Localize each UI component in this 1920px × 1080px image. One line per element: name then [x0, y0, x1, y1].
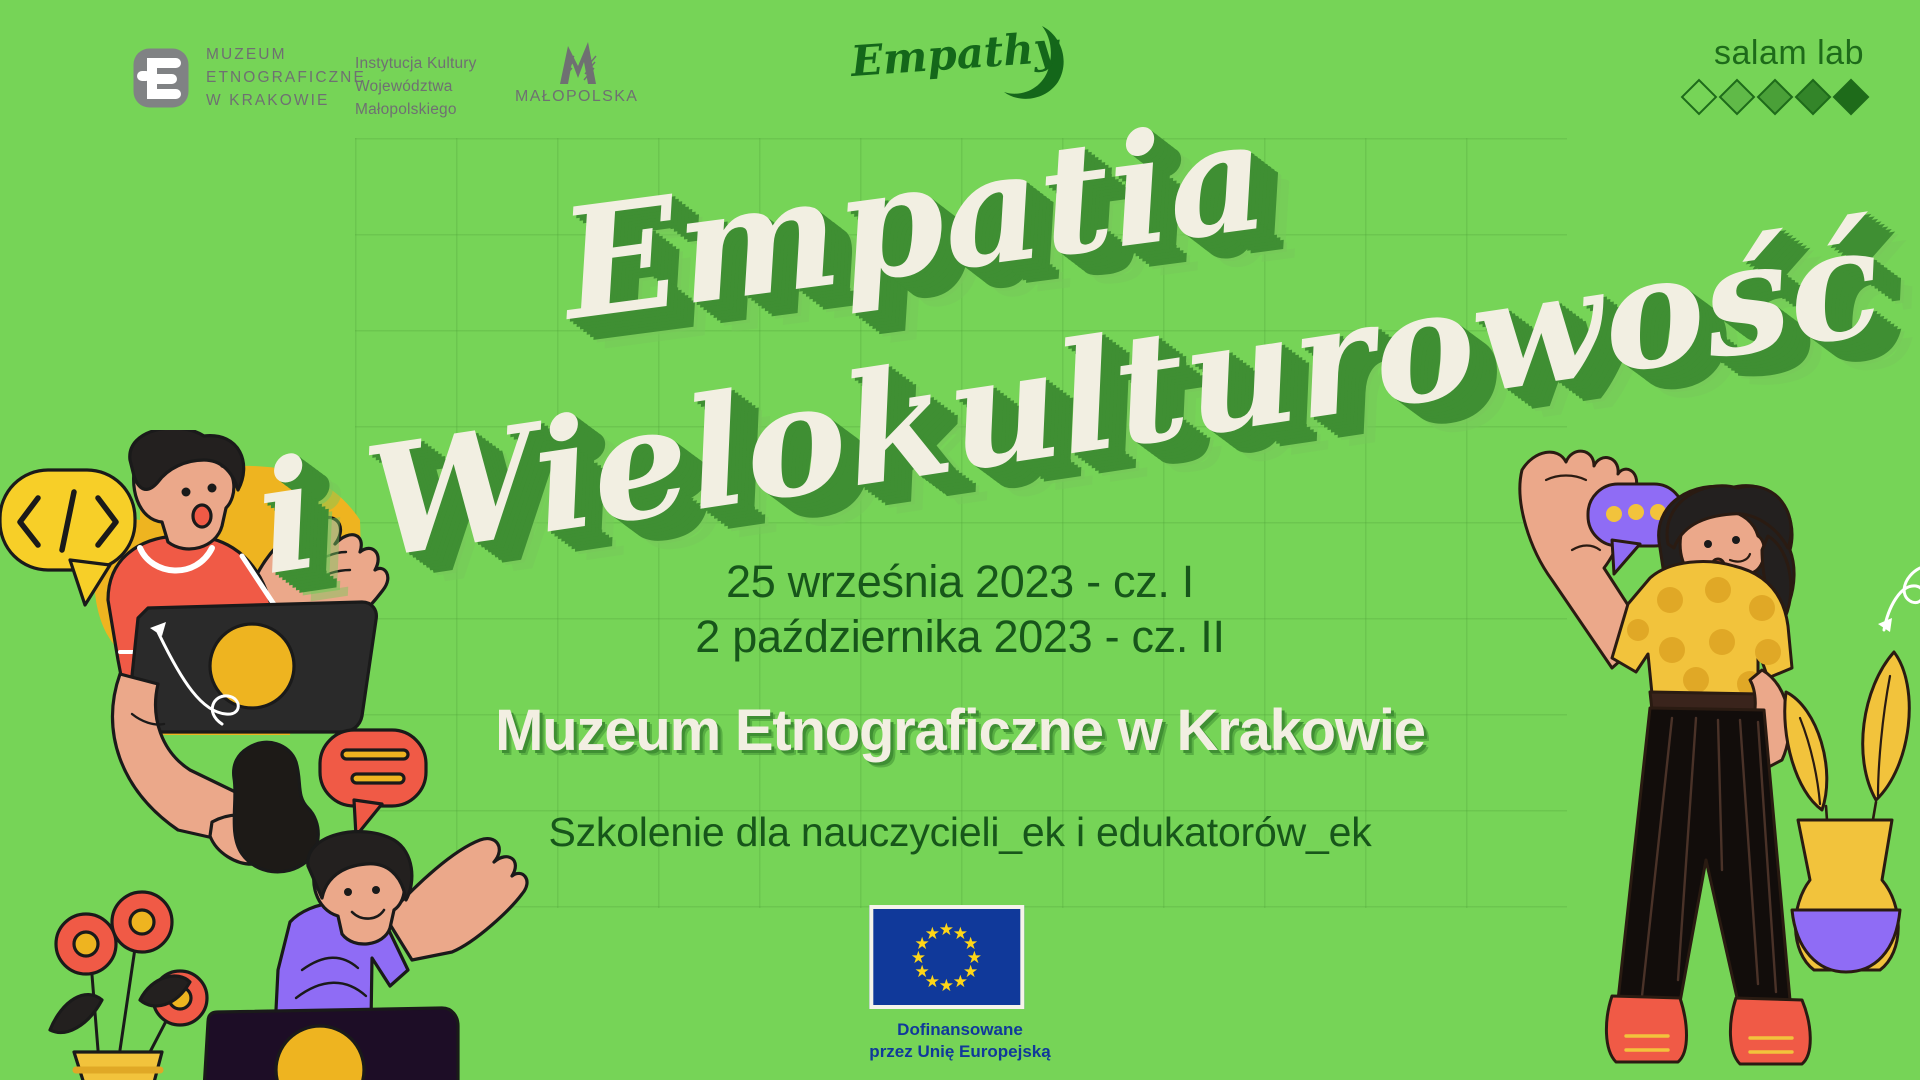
eu-flag-icon: ★★★★★★★★★★★★	[869, 905, 1024, 1009]
museum-name-line3: W KRAKOWIE	[206, 90, 366, 113]
museum-name-line1: MUZEUM	[206, 44, 366, 67]
diamond-3	[1757, 79, 1794, 116]
institution-text: Instytucja Kultury Województwa Małopolsk…	[355, 53, 477, 122]
museum-name-line2: ETNOGRAFICZNE	[206, 67, 366, 90]
event-date-part1: 25 września 2023 - cz. I	[0, 555, 1920, 610]
institution-line1: Instytucja Kultury	[355, 53, 477, 76]
malopolska-label: MAŁOPOLSKA	[515, 88, 638, 106]
museum-name: MUZEUM ETNOGRAFICZNE W KRAKOWIE	[206, 44, 366, 113]
diamond-5	[1833, 79, 1870, 116]
svg-text:Empathy: Empathy	[848, 22, 1062, 86]
eu-funding-badge: ★★★★★★★★★★★★ Dofinansowane przez Unię Eu…	[869, 905, 1050, 1062]
event-date-part2: 2 października 2023 - cz. II	[0, 610, 1920, 665]
event-info-block: 25 września 2023 - cz. I 2 października …	[0, 555, 1920, 856]
eu-caption-line1: Dofinansowane	[869, 1019, 1050, 1041]
diamond-4	[1795, 79, 1832, 116]
diamond-2	[1719, 79, 1756, 116]
salam-lab-label: salam lab	[1686, 36, 1864, 70]
malopolska-mark-icon	[546, 40, 608, 84]
eu-caption-line2: przez Unię Europejską	[869, 1041, 1050, 1063]
museum-monogram-icon	[132, 47, 190, 109]
event-audience: Szkolenie dla nauczycieli_ek i edukatoró…	[0, 809, 1920, 856]
poster-canvas: MUZEUM ETNOGRAFICZNE W KRAKOWIE Instytuc…	[0, 0, 1920, 1080]
headline-line2: i Wielokulturowość	[246, 190, 1893, 609]
salam-lab-diamonds	[1686, 84, 1864, 110]
institution-line3: Małopolskiego	[355, 99, 477, 122]
malopolska-logo: MAŁOPOLSKA	[515, 40, 638, 106]
eu-caption: Dofinansowane przez Unię Europejską	[869, 1019, 1050, 1062]
salam-lab-logo: salam lab	[1686, 36, 1864, 110]
sponsor-logo-bar: MUZEUM ETNOGRAFICZNE W KRAKOWIE Instytuc…	[0, 0, 1920, 130]
eu-star-7: ★	[939, 977, 954, 994]
eu-star-6: ★	[953, 973, 968, 990]
institution-line2: Województwa	[355, 76, 477, 99]
museum-logo: MUZEUM ETNOGRAFICZNE W KRAKOWIE	[132, 44, 366, 113]
eu-star-12: ★	[925, 925, 940, 942]
diamond-1	[1681, 79, 1718, 116]
event-venue: Muzeum Etnograficzne w Krakowie	[0, 697, 1920, 764]
empathy-crescent-icon: Empathy	[846, 22, 1066, 102]
eu-star-1: ★	[939, 921, 954, 938]
